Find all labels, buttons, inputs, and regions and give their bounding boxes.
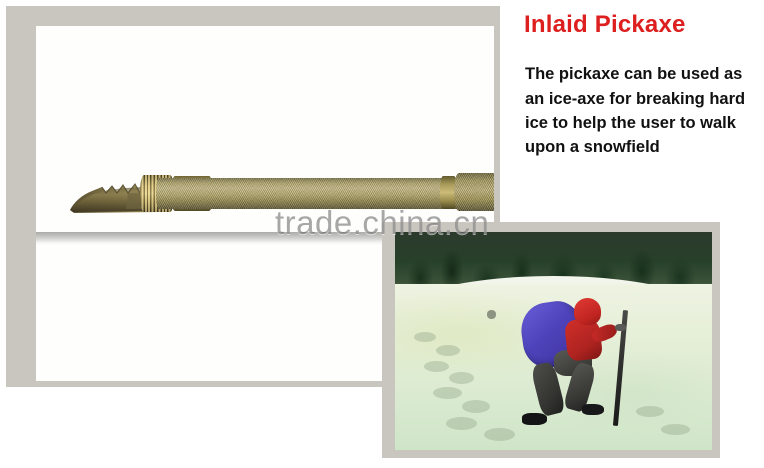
photo-footprint bbox=[424, 361, 449, 372]
page-title: Inlaid Pickaxe bbox=[524, 12, 756, 38]
page-stage: Inlaid Pickaxe The pickaxe can be used a… bbox=[0, 0, 764, 468]
product-description: The pickaxe can be used as an ice-axe fo… bbox=[525, 62, 747, 159]
photo-footprint bbox=[433, 387, 462, 399]
photo-footprint bbox=[449, 372, 474, 384]
snowfield-photo-frame bbox=[382, 222, 720, 458]
photo-hiker-front-boot bbox=[582, 404, 604, 415]
photo-hiker-hood bbox=[574, 298, 601, 324]
pickaxe-tail-cap bbox=[454, 173, 494, 211]
pickaxe-knurled-body bbox=[156, 178, 466, 209]
product-info-column: Inlaid Pickaxe The pickaxe can be used a… bbox=[520, 8, 756, 159]
photo-hiker-back-boot bbox=[522, 413, 547, 425]
snowfield-hiker-photo bbox=[395, 232, 712, 450]
photo-footprint bbox=[462, 400, 491, 413]
photo-footprint bbox=[661, 424, 690, 435]
photo-hiker-pole-grip bbox=[615, 324, 626, 332]
